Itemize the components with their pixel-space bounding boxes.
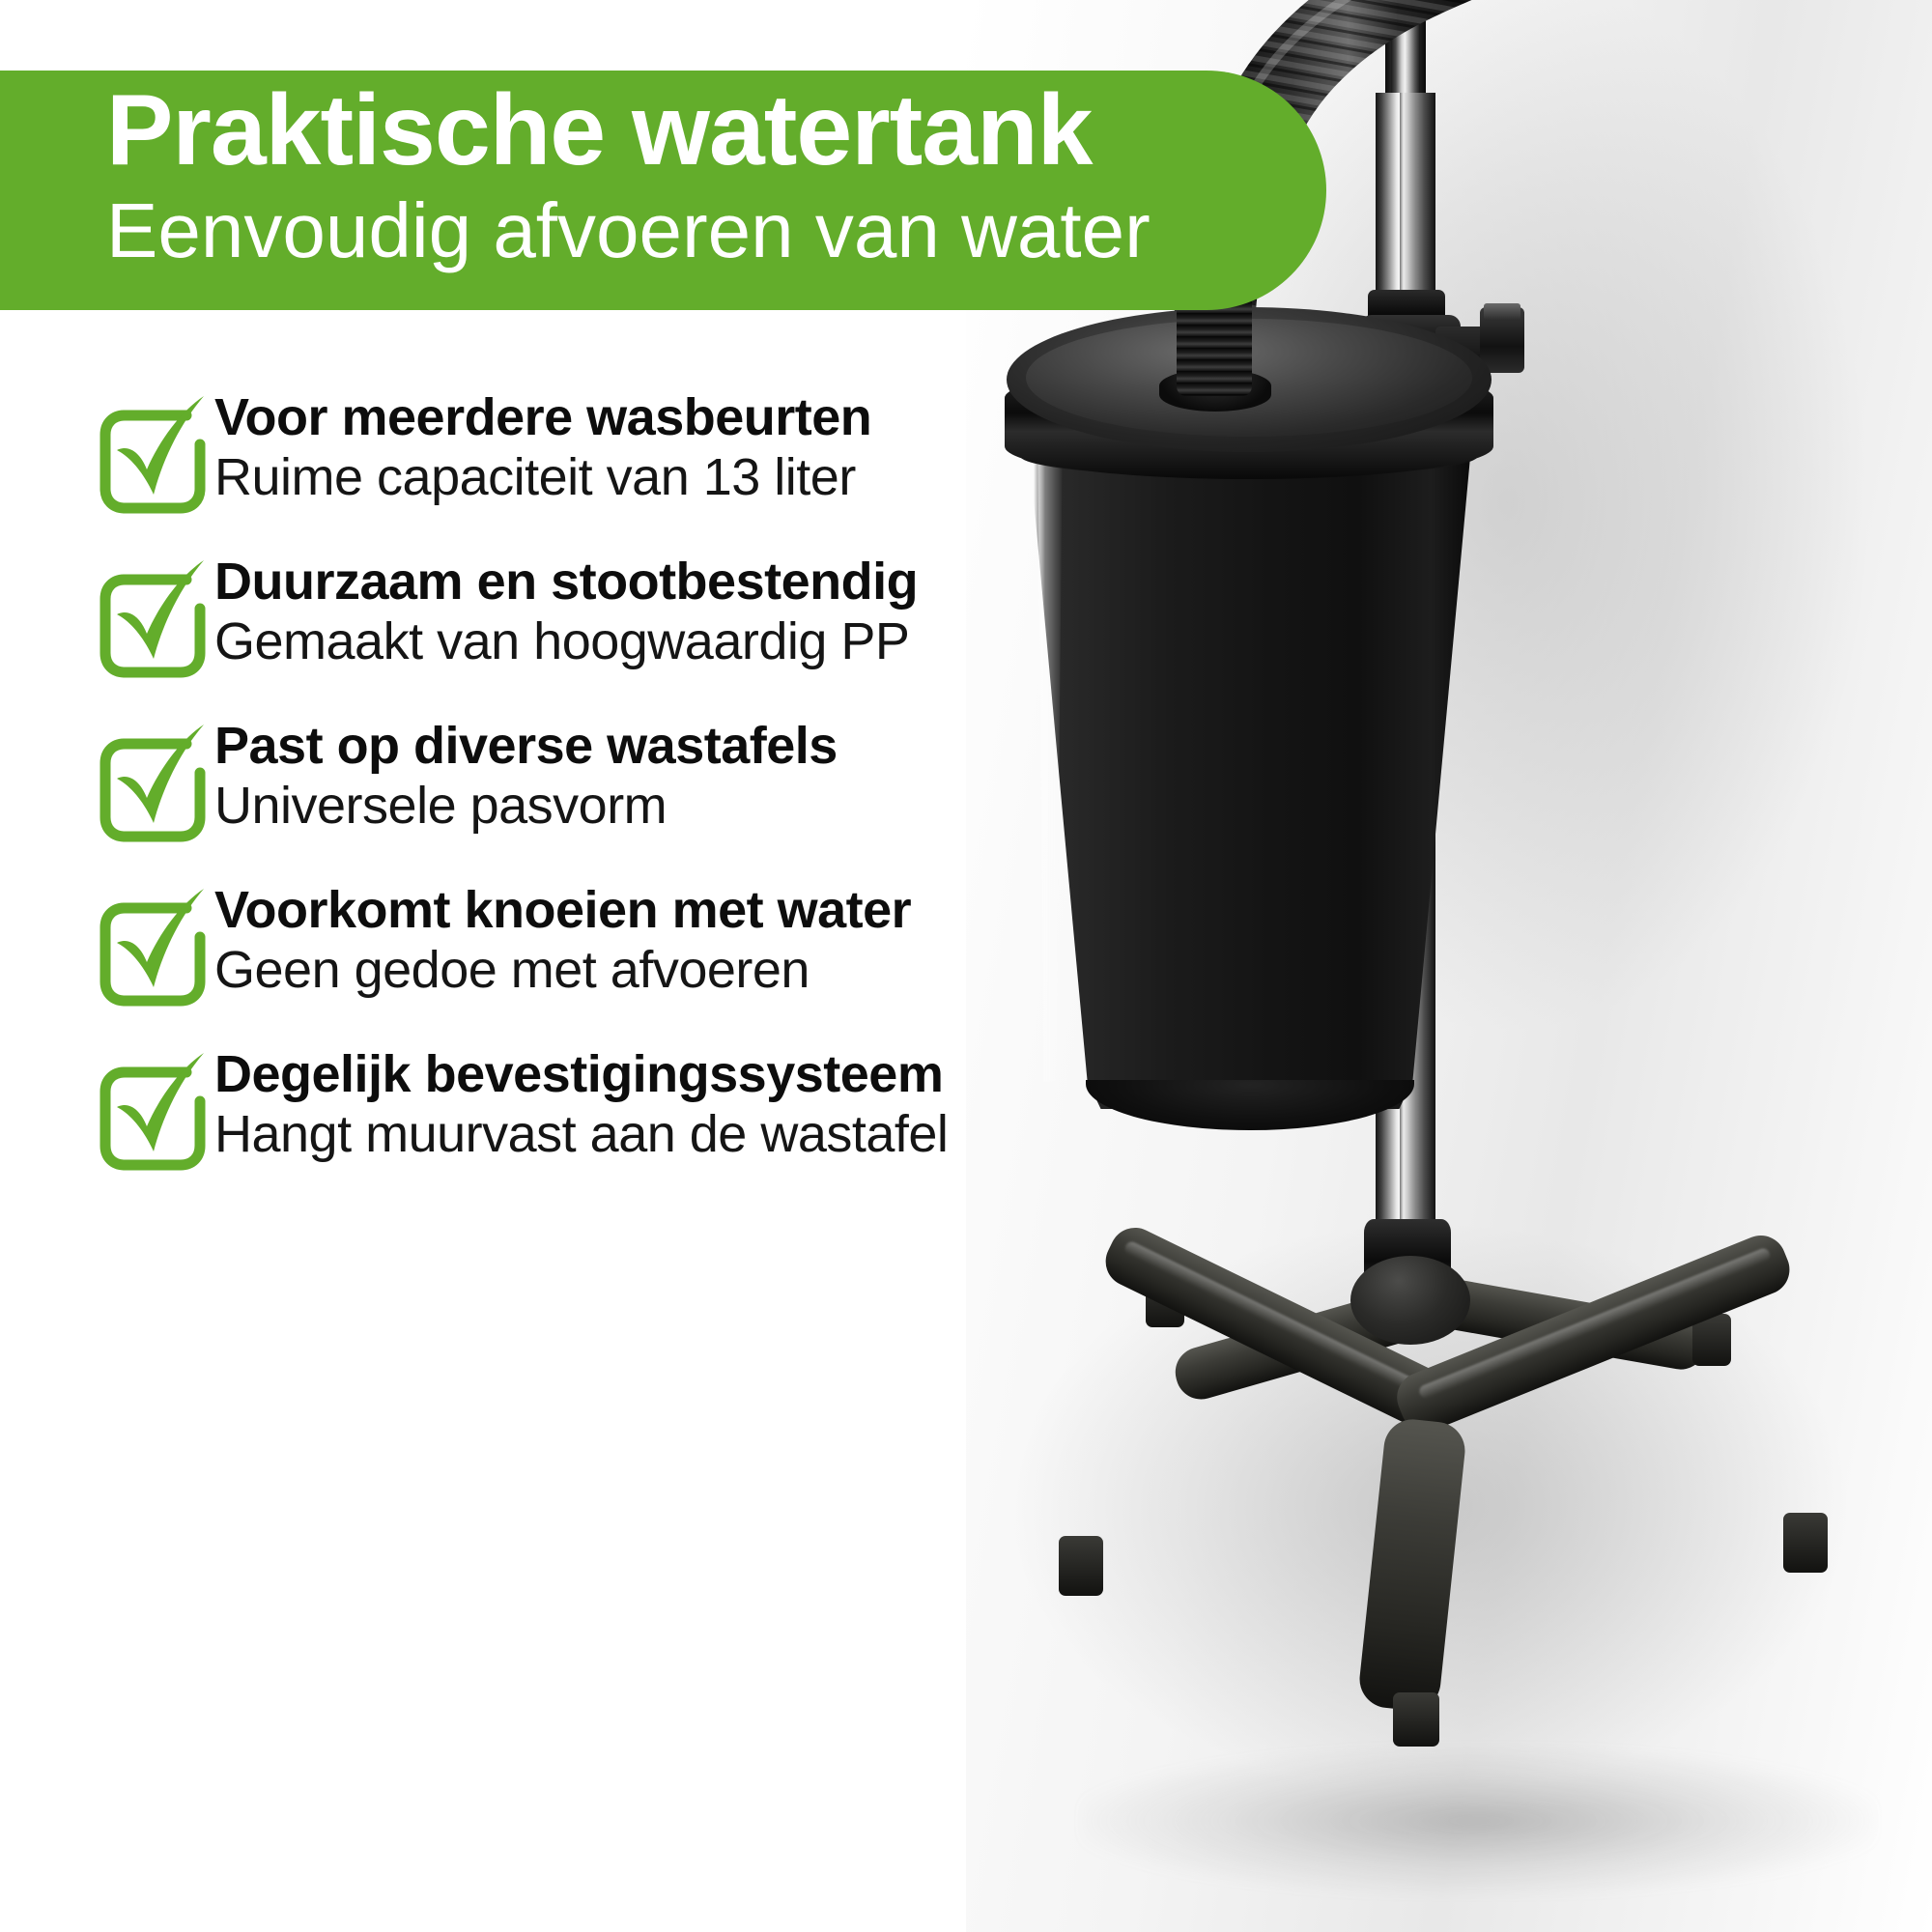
base-caster-front-right bbox=[1783, 1513, 1828, 1573]
green-checkmark-icon bbox=[92, 887, 215, 1012]
water-tank-body bbox=[1024, 394, 1476, 1109]
feature-text: Duurzaam en stootbestendig Gemaakt van h… bbox=[214, 553, 918, 673]
feature-subtitle: Ruime capaciteit van 13 liter bbox=[214, 447, 871, 509]
green-checkmark-icon bbox=[92, 723, 215, 848]
green-checkmark-icon bbox=[92, 1051, 215, 1177]
feature-item: Past op diverse wastafels Universele pas… bbox=[0, 715, 1024, 879]
feature-item: Degelijk bevestigingssysteem Hangt muurv… bbox=[0, 1043, 1024, 1207]
base-hub bbox=[1350, 1256, 1470, 1345]
feature-subtitle: Gemaakt van hoogwaardig PP bbox=[214, 611, 918, 673]
base-caster-front-center bbox=[1393, 1692, 1439, 1747]
banner-subtitle: Eenvoudig afvoeren van water bbox=[106, 192, 1151, 270]
feature-title: Degelijk bevestigingssysteem bbox=[214, 1045, 948, 1104]
feature-subtitle: Universele pasvorm bbox=[214, 776, 838, 838]
banner-title: Praktische watertank bbox=[106, 80, 1093, 181]
feature-title: Duurzaam en stootbestendig bbox=[214, 553, 918, 611]
feature-text: Past op diverse wastafels Universele pas… bbox=[214, 717, 838, 838]
clamp-knob-top bbox=[1484, 303, 1520, 321]
feature-item: Voor meerdere wasbeurten Ruime capacitei… bbox=[0, 386, 1024, 551]
green-checkmark-icon bbox=[92, 558, 215, 684]
feature-text: Voor meerdere wasbeurten Ruime capacitei… bbox=[214, 388, 871, 509]
feature-title: Voor meerdere wasbeurten bbox=[214, 388, 871, 447]
feature-item: Voorkomt knoeien met water Geen gedoe me… bbox=[0, 879, 1024, 1043]
feature-subtitle: Geen gedoe met afvoeren bbox=[214, 940, 911, 1002]
feature-list: Voor meerdere wasbeurten Ruime capacitei… bbox=[0, 386, 1024, 1207]
floor-shadow bbox=[1082, 1748, 1874, 1893]
feature-subtitle: Hangt muurvast aan de wastafel bbox=[214, 1104, 948, 1166]
feature-text: Voorkomt knoeien met water Geen gedoe me… bbox=[214, 881, 911, 1002]
green-checkmark-icon bbox=[92, 394, 215, 520]
feature-title: Voorkomt knoeien met water bbox=[214, 881, 911, 940]
feature-text: Degelijk bevestigingssysteem Hangt muurv… bbox=[214, 1045, 948, 1166]
header-banner: Praktische watertank Eenvoudig afvoeren … bbox=[0, 71, 1326, 310]
base-caster-front-left bbox=[1059, 1536, 1103, 1596]
feature-item: Duurzaam en stootbestendig Gemaakt van h… bbox=[0, 551, 1024, 715]
feature-title: Past op diverse wastafels bbox=[214, 717, 838, 776]
